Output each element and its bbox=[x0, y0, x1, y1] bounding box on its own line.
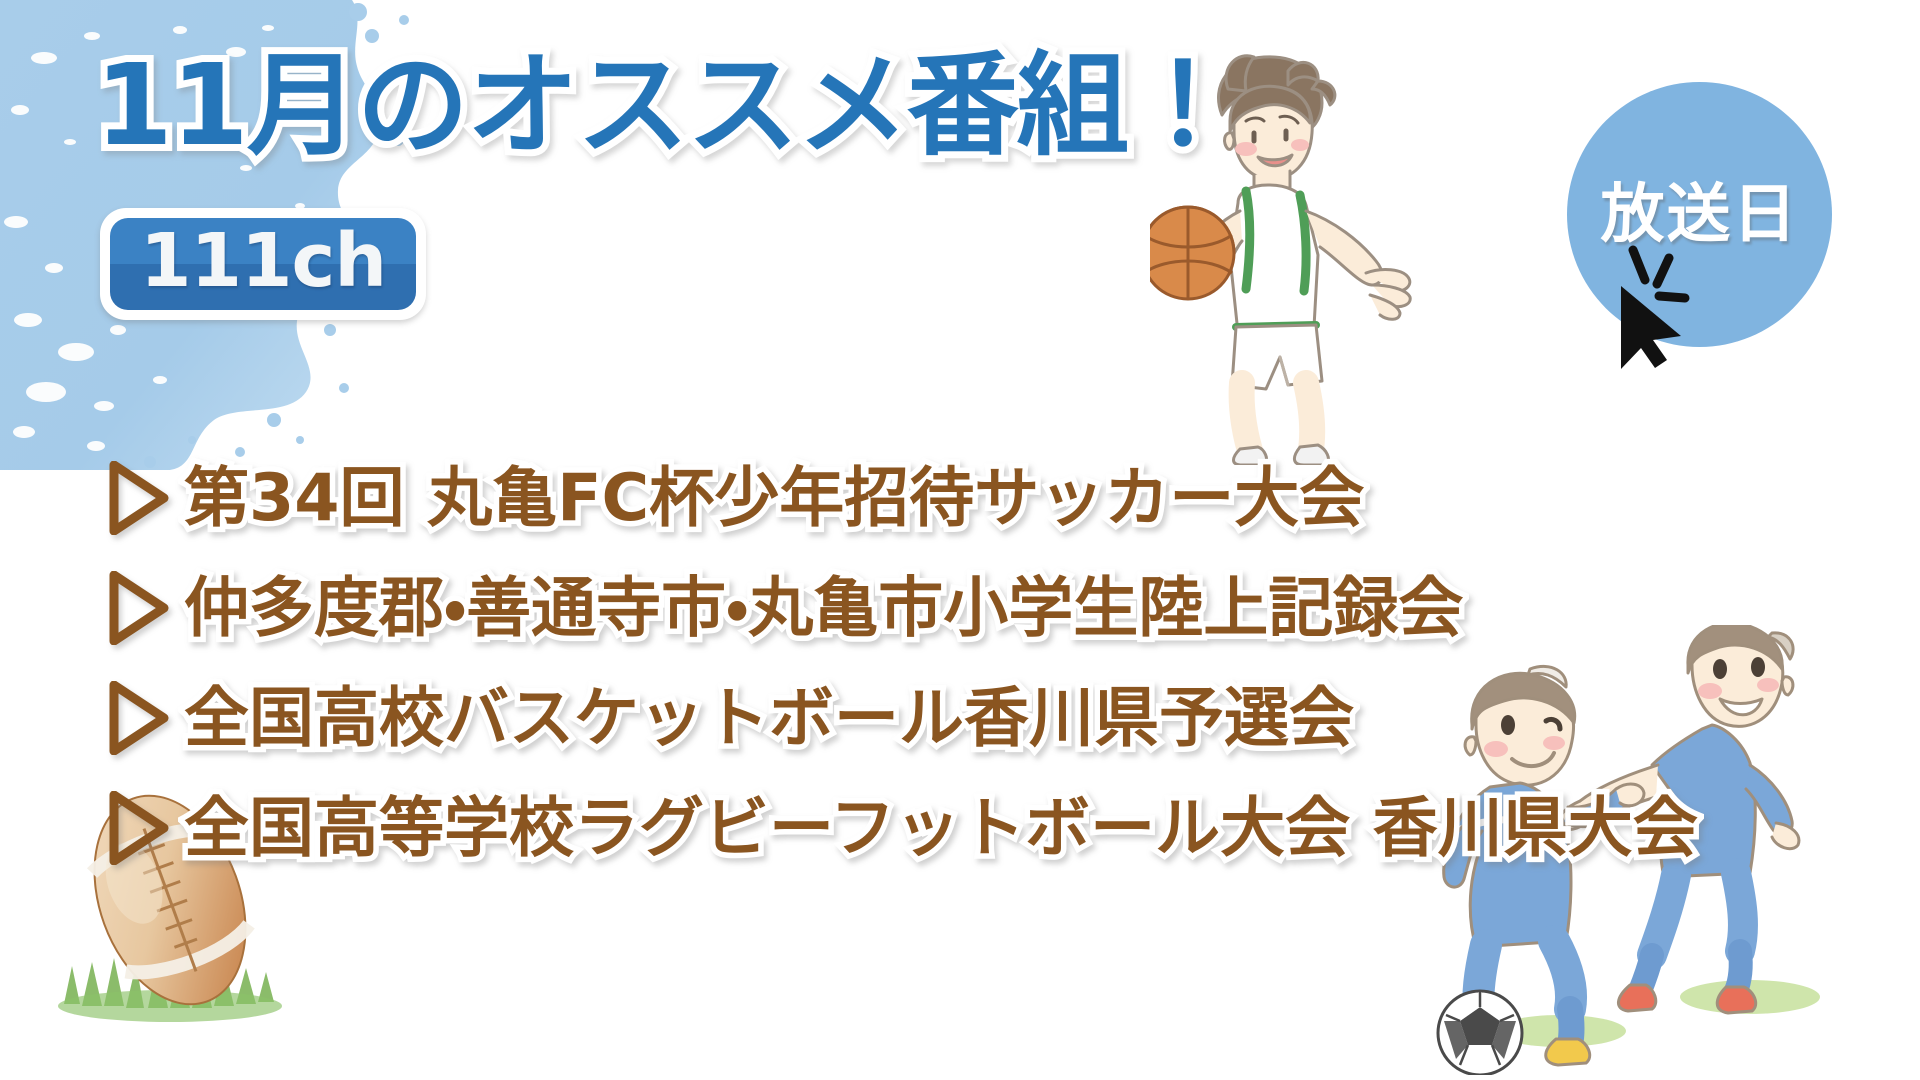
program-row[interactable]: 仲多度郡・善通寺市・丸亀市小学生陸上記録会 bbox=[108, 553, 1888, 663]
program-row[interactable]: 全国高等学校ラグビーフットボール大会 香川県大会 bbox=[108, 773, 1888, 883]
cursor-click-icon bbox=[1597, 236, 1712, 371]
program-title: 全国高校バスケットボール香川県予選会 bbox=[184, 686, 1354, 751]
play-triangle-icon bbox=[108, 461, 184, 535]
main-title-text: 11月のオススメ番組！ bbox=[95, 48, 1237, 166]
channel-badge-inner: 111ch bbox=[110, 218, 416, 310]
program-title: 全国高等学校ラグビーフットボール大会 香川県大会 bbox=[184, 796, 1698, 861]
play-triangle-icon bbox=[108, 571, 184, 645]
channel-badge-label: 111ch bbox=[140, 224, 386, 298]
program-title: 仲多度郡・善通寺市・丸亀市小学生陸上記録会 bbox=[184, 576, 1463, 641]
program-row[interactable]: 全国高校バスケットボール香川県予選会 bbox=[108, 663, 1888, 773]
channel-badge: 111ch bbox=[100, 208, 426, 320]
program-row[interactable]: 第34回 丸亀FC杯少年招待サッカー大会 bbox=[108, 443, 1888, 553]
page-title: 11月のオススメ番組！ bbox=[95, 48, 1237, 166]
program-title: 第34回 丸亀FC杯少年招待サッカー大会 bbox=[184, 466, 1364, 531]
play-triangle-icon bbox=[108, 681, 184, 755]
program-list: 第34回 丸亀FC杯少年招待サッカー大会 仲多度郡・善通寺市・丸亀市小学生陸上記… bbox=[108, 443, 1888, 883]
play-triangle-icon bbox=[108, 791, 184, 865]
